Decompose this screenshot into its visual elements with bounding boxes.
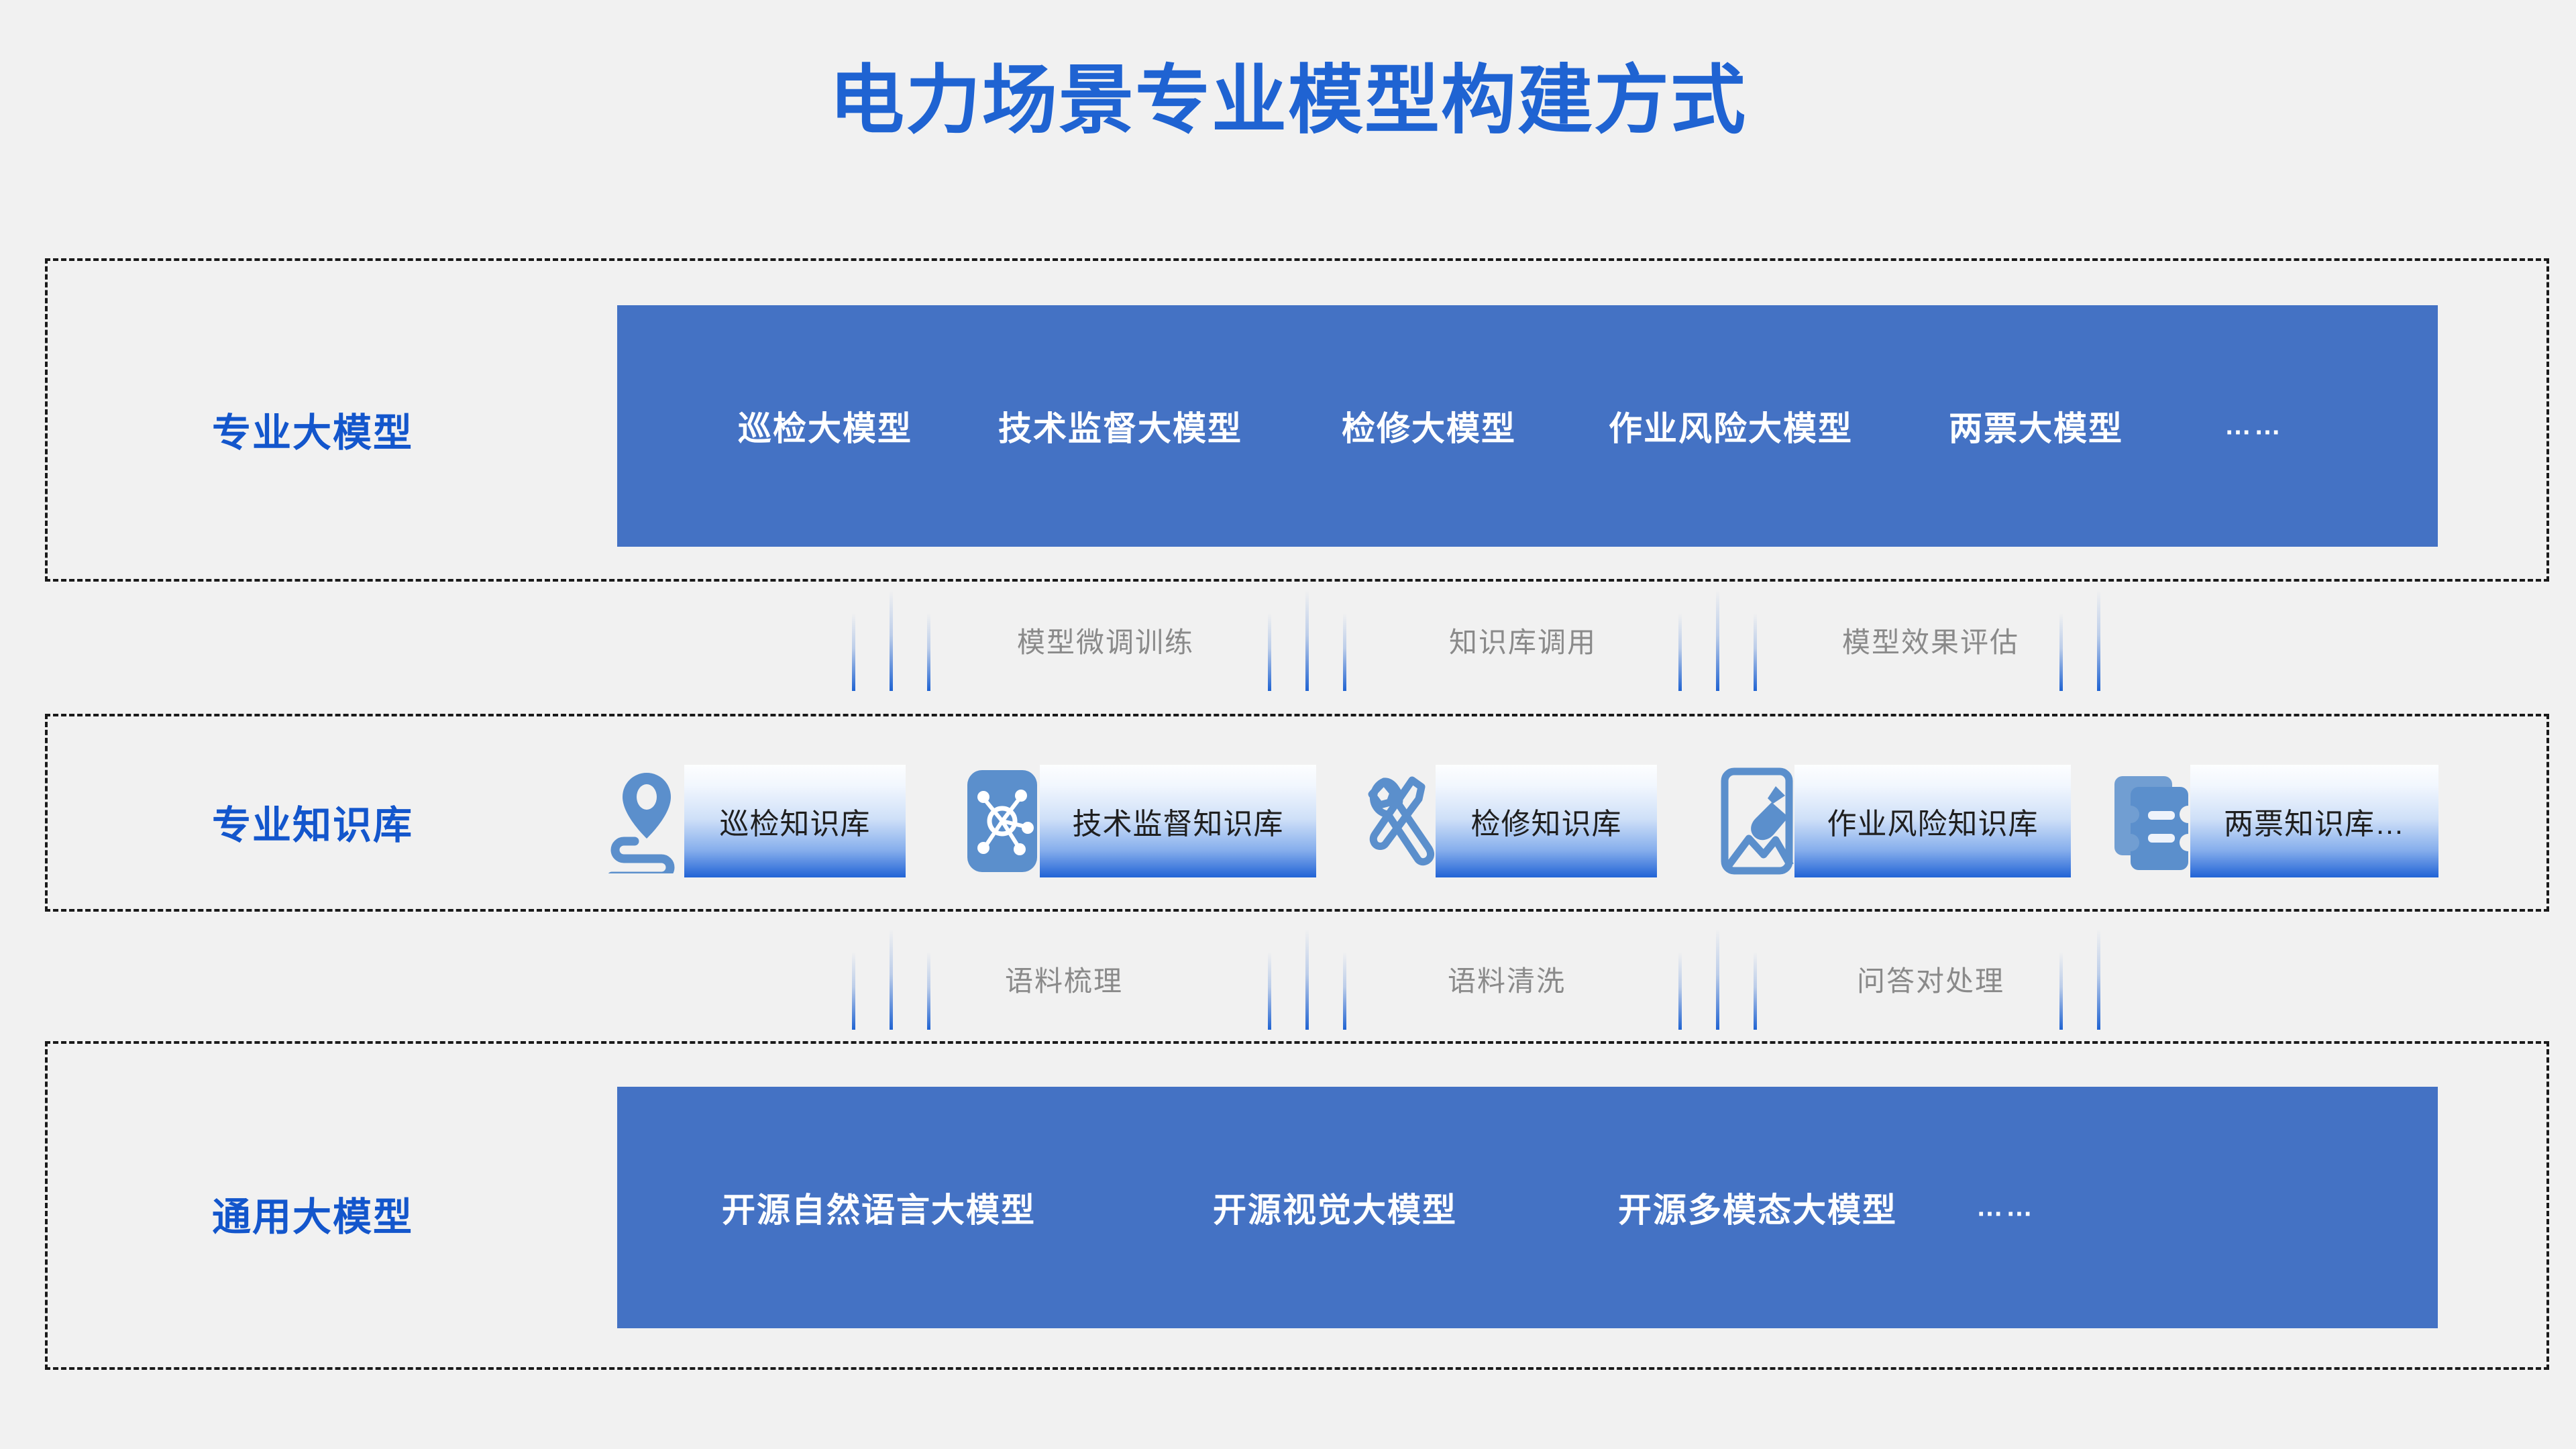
row-label-general-models: 通用大模型 [212,1185,413,1242]
professional-models-band: 巡检大模型 技术监督大模型 检修大模型 作业风险大模型 两票大模型 …… [617,305,2438,547]
connector-line [1716,929,1719,1030]
connector-label-qa-pair-processing: 问答对处理 [1857,959,2004,1000]
connector-line [2097,929,2100,1030]
connector-line [1343,613,1346,691]
knowledge-base-row: 巡检知识库 技术监督知识库 [604,754,2469,888]
model-chip-open-source-nlp[interactable]: 开源自然语言大模型 [722,1183,1036,1232]
connector-line [927,613,930,691]
row-label-knowledge-bases: 专业知识库 [212,794,413,850]
model-chip-open-source-vision[interactable]: 开源视觉大模型 [1213,1183,1457,1232]
kb-item-maintenance[interactable]: 检修知识库 [1355,754,1657,888]
network-nodes-icon [959,765,1045,877]
connector-line [2097,590,2100,691]
connector-label-fine-tuning: 模型微调训练 [1017,620,1194,661]
connector-label-corpus-cleaning: 语料清洗 [1448,959,1566,1000]
wrench-screwdriver-icon [1355,765,1441,877]
connector-line [1678,952,1682,1030]
connector-line [2059,952,2063,1030]
excavation-shovel-icon [1714,765,1800,877]
ticket-stack-icon [2110,765,2196,877]
connector-line [890,590,893,691]
connector-line [1268,952,1271,1030]
connector-line [1305,929,1309,1030]
model-chip-open-source-multimodal[interactable]: 开源多模态大模型 [1618,1183,1897,1232]
connector-line [1678,613,1682,691]
model-chip-more-ellipsis-general: …… [1976,1193,2035,1223]
model-chip-inspection[interactable]: 巡检大模型 [738,402,912,450]
connector-line [852,952,855,1030]
connector-label-effect-evaluation: 模型效果评估 [1842,620,2019,661]
model-chip-work-risk[interactable]: 作业风险大模型 [1609,402,1853,450]
general-models-band: 开源自然语言大模型 开源视觉大模型 开源多模态大模型 …… [617,1087,2438,1328]
connector-label-kb-invocation: 知识库调用 [1449,620,1597,661]
kb-card-label-maintenance: 检修知识库 [1436,765,1657,877]
connector-line [927,952,930,1030]
model-chip-two-tickets[interactable]: 两票大模型 [1949,402,2123,450]
model-chip-maintenance[interactable]: 检修大模型 [1342,402,1516,450]
connector-zone-upper: 模型微调训练 知识库调用 模型效果评估 [825,590,2127,691]
page-title: 电力场景专业模型构建方式 [0,59,2576,142]
connector-label-corpus-sorting: 语料梳理 [1005,959,1123,1000]
kb-item-tech-supervision[interactable]: 技术监督知识库 [959,754,1316,888]
row-label-professional-models: 专业大模型 [212,401,413,458]
connector-line [1716,590,1719,691]
model-chip-more-ellipsis: …… [2224,411,2284,441]
location-pin-route-icon [604,765,690,877]
connector-line [890,929,893,1030]
kb-item-inspection[interactable]: 巡检知识库 [604,754,906,888]
kb-item-two-tickets[interactable]: 两票知识库… [2110,754,2438,888]
kb-card-label-tech-supervision: 技术监督知识库 [1040,765,1316,877]
connector-zone-lower: 语料梳理 语料清洗 问答对处理 [825,929,2127,1030]
connector-line [1305,590,1309,691]
connector-line [1268,613,1271,691]
kb-card-label-work-risk: 作业风险知识库 [1794,765,2071,877]
connector-line [1754,613,1757,691]
connector-line [1754,952,1757,1030]
connector-line [2059,613,2063,691]
connector-line [1343,952,1346,1030]
kb-card-label-inspection: 巡检知识库 [684,765,906,877]
model-chip-tech-supervision[interactable]: 技术监督大模型 [998,402,1242,450]
kb-item-work-risk[interactable]: 作业风险知识库 [1714,754,2071,888]
kb-card-label-two-tickets: 两票知识库… [2190,765,2438,877]
connector-line [852,613,855,691]
